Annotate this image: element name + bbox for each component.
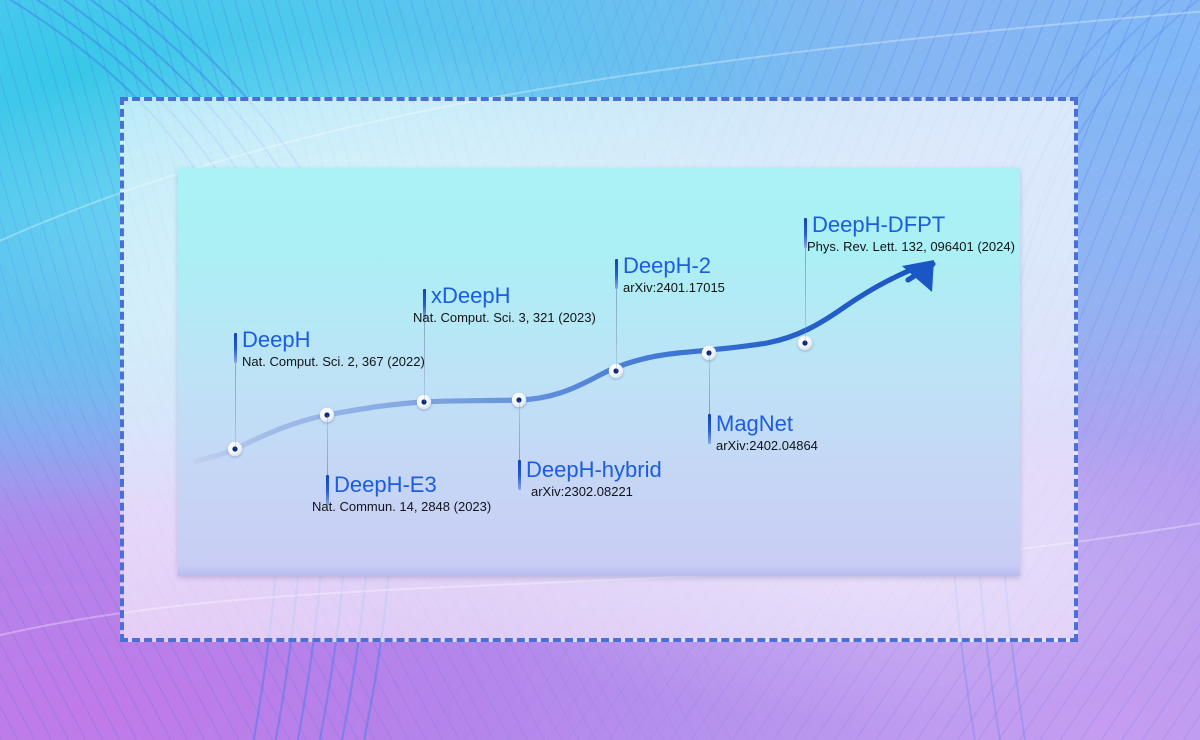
callout-title: xDeepH	[431, 284, 596, 308]
screenshot-root: DeepH Nat. Comput. Sci. 2, 367 (2022) De…	[0, 0, 1200, 740]
callout-magnet[interactable]: MagNet arXiv:2402.04864	[716, 412, 818, 454]
callout-deeph-2[interactable]: DeepH-2 arXiv:2401.17015	[623, 254, 725, 296]
tick-bar-deeph	[234, 333, 237, 363]
callout-reference: arXiv:2302.08221	[531, 484, 662, 500]
callout-deeph-e3[interactable]: DeepH-E3 Nat. Commun. 14, 2848 (2023)	[334, 473, 491, 515]
callout-title: DeepH	[242, 328, 425, 352]
tick-bar-deeph-2	[615, 259, 618, 289]
callout-reference: Nat. Comput. Sci. 3, 321 (2023)	[413, 310, 596, 326]
callout-deeph[interactable]: DeepH Nat. Comput. Sci. 2, 367 (2022)	[242, 328, 425, 370]
callout-title: DeepH-DFPT	[812, 213, 1015, 237]
callout-title: DeepH-hybrid	[526, 458, 662, 482]
callout-xdeeph[interactable]: xDeepH Nat. Comput. Sci. 3, 321 (2023)	[431, 284, 596, 326]
chart-panel[interactable]: DeepH Nat. Comput. Sci. 2, 367 (2022) De…	[178, 168, 1020, 576]
leader-line-magnet	[709, 353, 710, 418]
callout-title: DeepH-E3	[334, 473, 491, 497]
callout-reference: Nat. Comput. Sci. 2, 367 (2022)	[242, 354, 425, 370]
tick-bar-deeph-hybrid	[518, 460, 521, 490]
tick-bar-magnet	[708, 414, 711, 444]
callout-deeph-dfpt[interactable]: DeepH-DFPT Phys. Rev. Lett. 132, 096401 …	[812, 213, 1015, 255]
leader-line-deeph-hybrid	[519, 400, 520, 462]
callout-title: MagNet	[716, 412, 818, 436]
callout-reference: Phys. Rev. Lett. 132, 096401 (2024)	[807, 239, 1015, 255]
callout-title: DeepH-2	[623, 254, 725, 278]
callout-deeph-hybrid[interactable]: DeepH-hybrid arXiv:2302.08221	[526, 458, 662, 500]
callout-reference: arXiv:2402.04864	[716, 438, 818, 454]
callout-reference: Nat. Commun. 14, 2848 (2023)	[312, 499, 491, 515]
callout-reference: arXiv:2401.17015	[623, 280, 725, 296]
